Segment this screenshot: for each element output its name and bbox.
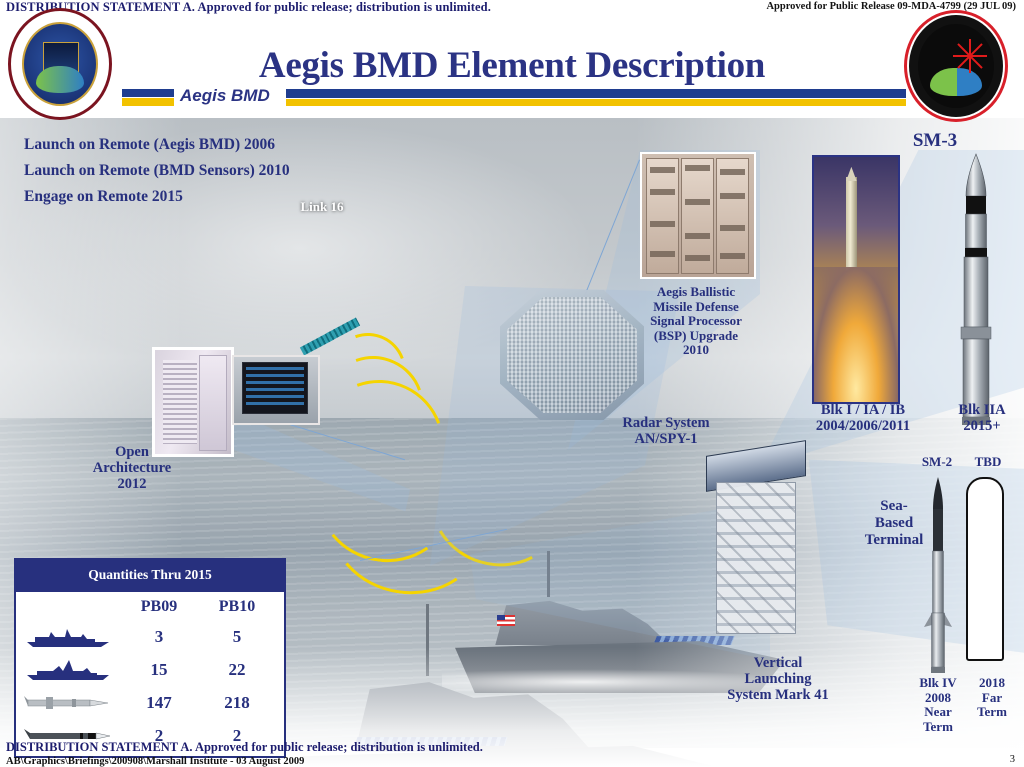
open-architecture-caption: Open Architecture 2012 xyxy=(62,444,202,493)
vls-caption-line: Launching xyxy=(690,671,866,687)
radar-caption-line: AN/SPY-1 xyxy=(592,431,740,447)
sm3-blk1-caption: Blk I / IA / IB 2004/2006/2011 xyxy=(778,402,948,434)
open-architecture-console-photo xyxy=(232,355,320,425)
radar-caption-line: Radar System xyxy=(592,415,740,431)
oa-caption-line: 2012 xyxy=(62,476,202,492)
sm3-blk2a-caption: Blk IIA 2015+ xyxy=(940,402,1024,434)
tbd-label: TBD xyxy=(962,455,1014,470)
sm2-label: SM-2 xyxy=(906,455,968,470)
column-header-pb09: PB09 xyxy=(120,598,198,616)
capability-milestones-list: Launch on Remote (Aegis BMD) 2006 Launch… xyxy=(24,136,290,214)
sm3-blk1-line: Blk I / IA / IB xyxy=(778,402,948,418)
slide-canvas: 70 DISTRIBUTION STATEMENT A. Approved fo… xyxy=(0,0,1024,767)
oa-caption-line: Open xyxy=(62,444,202,460)
cell-pb10: 5 xyxy=(198,627,276,647)
sm3-blk2a-line: Blk IIA xyxy=(940,402,1024,418)
radar-caption: Radar System AN/SPY-1 xyxy=(592,415,740,447)
list-item: Launch on Remote (Aegis BMD) 2006 xyxy=(24,136,290,154)
sm3-heading: SM-3 xyxy=(880,130,990,151)
file-path-label: AB\Graphics\Briefings\200908\Marshall In… xyxy=(6,756,304,767)
cell-pb10: 22 xyxy=(198,660,276,680)
sm2-blk4-missile-illustration xyxy=(918,475,958,675)
tbd-block-line: Far xyxy=(962,691,1022,706)
sm2-block-line: Term xyxy=(898,720,978,735)
list-item: Engage on Remote 2015 xyxy=(24,188,290,206)
tbd-interceptor-outline xyxy=(966,477,1004,661)
bsp-caption-line: Missile Defense xyxy=(628,300,764,315)
oa-caption-line: Architecture xyxy=(62,460,202,476)
page-number: 3 xyxy=(1010,754,1015,765)
cell-pb09: 3 xyxy=(120,627,198,647)
quantities-table-title: Quantities Thru 2015 xyxy=(16,560,284,592)
sm2-missile-icon xyxy=(16,695,120,711)
bsp-caption-line: Signal Processor xyxy=(628,314,764,329)
destroyer-icon xyxy=(16,659,120,681)
cell-pb10: 218 xyxy=(198,693,276,713)
public-release-approval: Approved for Public Release 09-MDA-4799 … xyxy=(766,1,1016,12)
vls-module-photo xyxy=(706,448,804,644)
distribution-statement-bottom: DISTRIBUTION STATEMENT A. Approved for p… xyxy=(6,740,483,755)
page-title: Aegis BMD Element Description xyxy=(0,44,1024,87)
bsp-caption-line: 2010 xyxy=(628,343,764,358)
table-row: 147 218 xyxy=(16,686,284,719)
sm3-blk2a-line: 2015+ xyxy=(940,418,1024,434)
cruiser-icon xyxy=(16,626,120,648)
link16-label: Link 16 xyxy=(282,200,362,215)
sm3-blk2a-missile-illustration xyxy=(946,152,1006,432)
tbd-caption: 2018 Far Term xyxy=(962,676,1022,720)
sm3-blk1-line: 2004/2006/2011 xyxy=(778,418,948,434)
vls-caption-line: Vertical xyxy=(690,655,866,671)
sm3-launch-photo xyxy=(812,155,900,404)
banner-label: Aegis BMD xyxy=(180,86,270,106)
vls-caption-line: System Mark 41 xyxy=(690,687,866,703)
bsp-caption-line: Aegis Ballistic xyxy=(628,285,764,300)
table-header-row: PB09 PB10 xyxy=(16,594,284,620)
spy1-radar-array xyxy=(500,290,644,420)
bsp-caption: Aegis Ballistic Missile Defense Signal P… xyxy=(628,285,764,358)
cell-pb09: 15 xyxy=(120,660,198,680)
bsp-caption-line: (BSP) Upgrade xyxy=(628,329,764,344)
column-header-pb10: PB10 xyxy=(198,598,276,616)
quantities-table: Quantities Thru 2015 PB09 PB10 3 5 15 22 xyxy=(14,558,286,758)
tbd-block-line: Term xyxy=(962,705,1022,720)
title-accent-bar: Aegis BMD xyxy=(122,88,906,110)
list-item: Launch on Remote (BMD Sensors) 2010 xyxy=(24,162,290,180)
open-architecture-cabinet-photo xyxy=(152,347,234,457)
cell-pb09: 147 xyxy=(120,693,198,713)
table-row: 15 22 xyxy=(16,653,284,686)
vls-caption: Vertical Launching System Mark 41 xyxy=(690,655,866,704)
tbd-block-line: 2018 xyxy=(962,676,1022,691)
table-row: 3 5 xyxy=(16,620,284,653)
bsp-cabinet-photo xyxy=(640,152,756,279)
